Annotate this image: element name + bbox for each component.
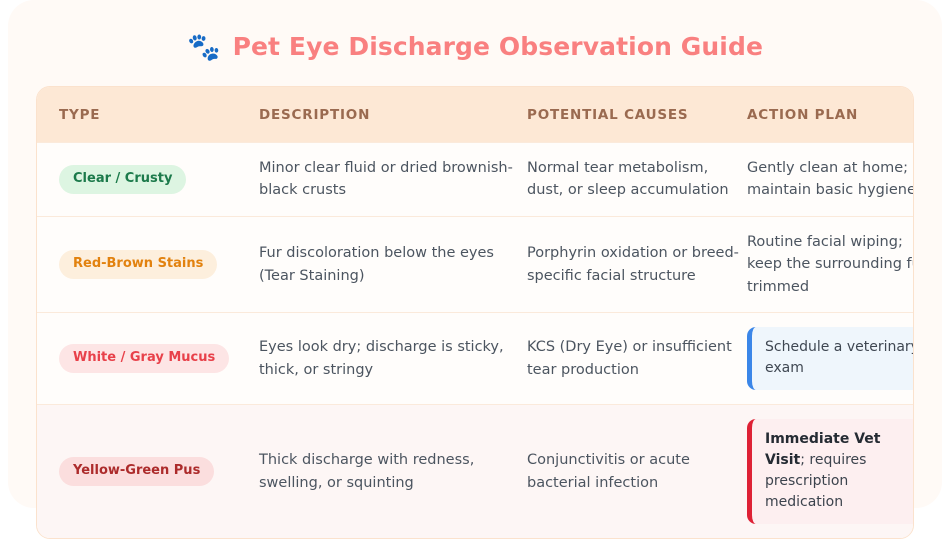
column-header-type: TYPE	[37, 87, 259, 143]
status-badge: Clear / Crusty	[59, 165, 186, 194]
table-row: White / Gray Mucus Eyes look dry; discha…	[37, 313, 914, 405]
status-badge: Red-Brown Stains	[59, 250, 217, 279]
cell-description: Fur discoloration below the eyes (Tear S…	[259, 216, 527, 312]
causes-text: KCS (Dry Eye) or insufficient tear produ…	[527, 336, 747, 381]
status-badge: Yellow-Green Pus	[59, 457, 214, 486]
column-header-potential-causes: POTENTIAL CAUSES	[527, 87, 747, 143]
cell-potential-causes: Normal tear metabolism, dust, or sleep a…	[527, 143, 747, 217]
action-callout-schedule-exam: Schedule a veterinary exam	[747, 327, 914, 390]
table-body: Clear / Crusty Minor clear fluid or drie…	[37, 143, 914, 539]
table-row: Clear / Crusty Minor clear fluid or drie…	[37, 143, 914, 217]
description-text: Minor clear fluid or dried brownish-blac…	[259, 157, 527, 202]
table-header-row: TYPE DESCRIPTION POTENTIAL CAUSES ACTION…	[37, 87, 914, 143]
description-text: Thick discharge with redness, swelling, …	[259, 449, 527, 494]
cell-type: White / Gray Mucus	[37, 313, 259, 405]
action-text: Routine facial wiping; keep the surround…	[747, 231, 914, 298]
cell-action-plan: Routine facial wiping; keep the surround…	[747, 216, 914, 312]
table-row: Red-Brown Stains Fur discoloration below…	[37, 216, 914, 312]
action-text: Gently clean at home; maintain basic hyg…	[747, 157, 914, 202]
action-text: Schedule a veterinary exam	[765, 339, 914, 376]
page-title: Pet Eye Discharge Observation Guide	[233, 32, 763, 61]
status-badge: White / Gray Mucus	[59, 344, 229, 373]
paw-prints-icon: 🐾	[187, 34, 221, 61]
eye-discharge-guide-table: TYPE DESCRIPTION POTENTIAL CAUSES ACTION…	[37, 87, 914, 538]
cell-description: Minor clear fluid or dried brownish-blac…	[259, 143, 527, 217]
page-card: 🐾 Pet Eye Discharge Observation Guide TY…	[8, 0, 942, 508]
action-callout-immediate-vet-visit: Immediate Vet Visit; requires prescripti…	[747, 419, 914, 524]
cell-action-plan: Gently clean at home; maintain basic hyg…	[747, 143, 914, 217]
cell-action-plan: Immediate Vet Visit; requires prescripti…	[747, 405, 914, 539]
causes-text: Conjunctivitis or acute bacterial infect…	[527, 449, 747, 494]
column-header-description: DESCRIPTION	[259, 87, 527, 143]
causes-text: Normal tear metabolism, dust, or sleep a…	[527, 157, 747, 202]
description-text: Fur discoloration below the eyes (Tear S…	[259, 242, 527, 287]
cell-potential-causes: KCS (Dry Eye) or insufficient tear produ…	[527, 313, 747, 405]
table-header: TYPE DESCRIPTION POTENTIAL CAUSES ACTION…	[37, 87, 914, 143]
cell-action-plan: Schedule a veterinary exam	[747, 313, 914, 405]
guide-table-container: TYPE DESCRIPTION POTENTIAL CAUSES ACTION…	[36, 86, 914, 539]
causes-text: Porphyrin oxidation or breed-specific fa…	[527, 242, 747, 287]
column-header-action-plan: ACTION PLAN	[747, 87, 914, 143]
cell-potential-causes: Conjunctivitis or acute bacterial infect…	[527, 405, 747, 539]
table-row: Yellow-Green Pus Thick discharge with re…	[37, 405, 914, 539]
cell-type: Red-Brown Stains	[37, 216, 259, 312]
page-header: 🐾 Pet Eye Discharge Observation Guide	[8, 0, 942, 86]
cell-potential-causes: Porphyrin oxidation or breed-specific fa…	[527, 216, 747, 312]
cell-description: Thick discharge with redness, swelling, …	[259, 405, 527, 539]
cell-type: Clear / Crusty	[37, 143, 259, 217]
description-text: Eyes look dry; discharge is sticky, thic…	[259, 336, 527, 381]
cell-description: Eyes look dry; discharge is sticky, thic…	[259, 313, 527, 405]
cell-type: Yellow-Green Pus	[37, 405, 259, 539]
